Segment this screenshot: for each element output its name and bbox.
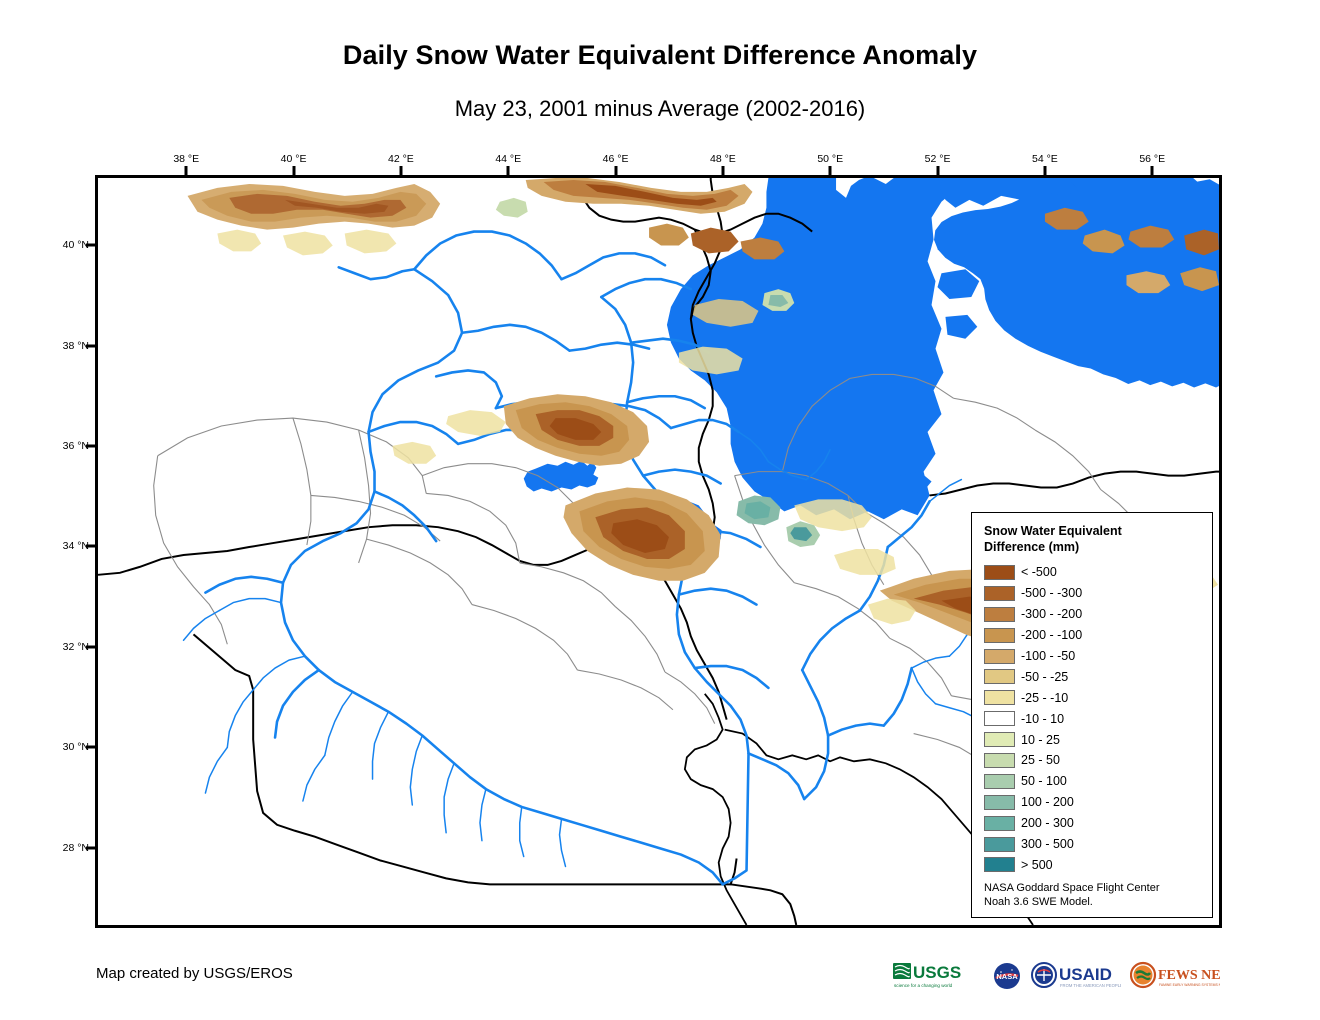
longitude-tick <box>721 166 724 175</box>
legend-entry: -100 - -50 <box>984 646 1202 667</box>
legend-color-swatch <box>984 690 1015 705</box>
longitude-label: 48 °E <box>710 153 736 165</box>
legend-color-swatch <box>984 753 1015 768</box>
longitude-tick <box>507 166 510 175</box>
longitude-label: 56 °E <box>1139 153 1165 165</box>
svg-text:USGS: USGS <box>913 963 961 982</box>
longitude-tick <box>936 166 939 175</box>
longitude-label: 52 °E <box>925 153 951 165</box>
legend-entry-label: 50 - 100 <box>1021 774 1067 788</box>
legend-entry: 50 - 100 <box>984 771 1202 792</box>
legend-entry: 10 - 25 <box>984 729 1202 750</box>
latitude-label: 40 °N <box>47 239 89 251</box>
legend-title: Snow Water Equivalent Difference (mm) <box>984 523 1202 555</box>
legend-entry-label: < -500 <box>1021 565 1057 579</box>
legend-color-swatch <box>984 774 1015 789</box>
latitude-label: 34 °N <box>47 540 89 552</box>
longitude-tick <box>292 166 295 175</box>
latitude-label: 30 °N <box>47 741 89 753</box>
legend-entry: -10 - 10 <box>984 708 1202 729</box>
latitude-tick <box>86 645 95 648</box>
longitude-label: 54 °E <box>1032 153 1058 165</box>
legend-color-swatch <box>984 816 1015 831</box>
legend-entry: > 500 <box>984 854 1202 875</box>
fewsnet-logo: FEWS NET FAMINE EARLY WARNING SYSTEMS NE… <box>1130 961 1220 991</box>
legend-entry: 300 - 500 <box>984 834 1202 855</box>
legend-color-swatch <box>984 857 1015 872</box>
legend-entry-label: 25 - 50 <box>1021 753 1060 767</box>
page-title: Daily Snow Water Equivalent Difference A… <box>0 40 1320 71</box>
legend-color-swatch <box>984 711 1015 726</box>
legend-entry-label: 200 - 300 <box>1021 816 1074 830</box>
legend-color-swatch <box>984 732 1015 747</box>
legend-entry-label: 300 - 500 <box>1021 837 1074 851</box>
legend-entry: -300 - -200 <box>984 604 1202 625</box>
longitude-tick <box>185 166 188 175</box>
border-turkey-syria <box>98 525 643 575</box>
latitude-label: 32 °N <box>47 641 89 653</box>
longitude-tick <box>1151 166 1154 175</box>
latitude-tick <box>86 846 95 849</box>
latitude-tick <box>86 244 95 247</box>
legend-color-swatch <box>984 628 1015 643</box>
longitude-label: 44 °E <box>495 153 521 165</box>
legend-entry-label: -10 - 10 <box>1021 712 1064 726</box>
legend-entry: -200 - -100 <box>984 625 1202 646</box>
legend-entry: -50 - -25 <box>984 666 1202 687</box>
legend-entry-label: -200 - -100 <box>1021 628 1082 642</box>
svg-text:NASA: NASA <box>996 972 1018 981</box>
nasa-logo: NASA <box>992 961 1022 991</box>
longitude-tick <box>1043 166 1046 175</box>
legend-entry: 100 - 200 <box>984 792 1202 813</box>
agency-logo-strip: USGS science for a changing world NASA U… <box>893 958 1220 994</box>
legend-entry: -25 - -10 <box>984 687 1202 708</box>
latitude-tick <box>86 545 95 548</box>
usgs-logo: USGS science for a changing world <box>893 961 983 991</box>
longitude-label: 42 °E <box>388 153 414 165</box>
legend-entry: -500 - -300 <box>984 583 1202 604</box>
usaid-logo: USAID FROM THE AMERICAN PEOPLE <box>1031 961 1121 991</box>
legend-color-swatch <box>984 795 1015 810</box>
latitude-tick <box>86 445 95 448</box>
legend-entry-label: -50 - -25 <box>1021 670 1068 684</box>
legend-color-swatch <box>984 586 1015 601</box>
legend-entry-label: -100 - -50 <box>1021 649 1075 663</box>
lake-urmia <box>524 461 599 492</box>
legend-entry-label: 10 - 25 <box>1021 733 1060 747</box>
legend-entry-label: > 500 <box>1021 858 1053 872</box>
longitude-label: 40 °E <box>281 153 307 165</box>
legend-entry: < -500 <box>984 562 1202 583</box>
svg-text:USAID: USAID <box>1059 965 1112 984</box>
svg-text:FEWS NET: FEWS NET <box>1158 968 1220 983</box>
legend-entry-label: -25 - -10 <box>1021 691 1068 705</box>
longitude-label: 38 °E <box>173 153 199 165</box>
svg-text:FAMINE EARLY WARNING SYSTEMS N: FAMINE EARLY WARNING SYSTEMS NETWORK <box>1159 983 1220 987</box>
longitude-tick <box>614 166 617 175</box>
map-legend: Snow Water Equivalent Difference (mm) < … <box>971 512 1213 918</box>
legend-color-swatch <box>984 837 1015 852</box>
legend-entry-label: 100 - 200 <box>1021 795 1074 809</box>
latitude-label: 36 °N <box>47 440 89 452</box>
longitude-tick <box>829 166 832 175</box>
legend-entry-label: -500 - -300 <box>1021 586 1082 600</box>
legend-color-swatch <box>984 649 1015 664</box>
map-credit: Map created by USGS/EROS <box>96 965 293 982</box>
svg-text:science for a changing world: science for a changing world <box>894 983 953 988</box>
legend-entry: 200 - 300 <box>984 813 1202 834</box>
longitude-label: 46 °E <box>603 153 629 165</box>
page-subtitle: May 23, 2001 minus Average (2002-2016) <box>0 96 1320 122</box>
legend-entry-label: -300 - -200 <box>1021 607 1082 621</box>
legend-entry-list: < -500-500 - -300-300 - -200-200 - -100-… <box>984 562 1202 875</box>
legend-color-swatch <box>984 607 1015 622</box>
longitude-label: 50 °E <box>817 153 843 165</box>
latitude-label: 38 °N <box>47 340 89 352</box>
legend-color-swatch <box>984 565 1015 580</box>
latitude-tick <box>86 746 95 749</box>
legend-color-swatch <box>984 669 1015 684</box>
svg-text:FROM THE AMERICAN PEOPLE: FROM THE AMERICAN PEOPLE <box>1060 983 1121 988</box>
latitude-label: 28 °N <box>47 842 89 854</box>
persian-gulf-coast-west <box>685 694 747 925</box>
legend-source-note: NASA Goddard Space Flight Center Noah 3.… <box>984 882 1159 909</box>
latitude-tick <box>86 344 95 347</box>
legend-entry: 25 - 50 <box>984 750 1202 771</box>
longitude-tick <box>399 166 402 175</box>
